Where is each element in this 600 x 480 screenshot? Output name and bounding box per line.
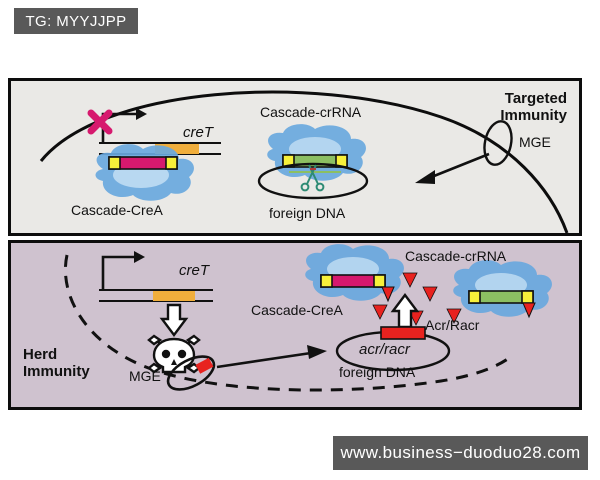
cret-gene-label-bottom: creT	[179, 263, 209, 280]
mge-transfer-arrow-line	[217, 353, 311, 367]
acr-racr-gene-label: acr/racr	[359, 342, 410, 359]
panel-title-line1: Targeted	[500, 91, 567, 108]
mge-entry-arrow-head	[415, 170, 435, 184]
telegram-watermark-text: TG: MYYJJPP	[25, 13, 126, 30]
crrna-bar-end-right-bottom	[522, 291, 533, 303]
site-watermark-text: www.business−duoduo28.com	[340, 443, 580, 463]
panel-targeted-immunity: creT Cascade-CreA Cascade-crRNA foreign …	[8, 78, 582, 236]
crea-bar-end-left-bottom	[321, 275, 332, 287]
cascade-crrna-complex-bottom	[453, 260, 552, 317]
panel-title-line2-bottom: Immunity	[23, 364, 90, 381]
mge-transfer-arrow-head	[307, 345, 327, 359]
crrna-bar-end-left-bottom	[469, 291, 480, 303]
cascade-crea-label-top: Cascade-CreA	[71, 203, 163, 219]
crea-bar-end-right-bottom	[374, 275, 385, 287]
mge-label-bottom: MGE	[129, 369, 161, 385]
panel-title-herd-immunity: Herd Immunity	[23, 347, 90, 381]
promoter-arrow-head-bottom	[134, 251, 145, 263]
panel-title-targeted-immunity: Targeted Immunity	[500, 91, 567, 125]
herd-immunity-graphics	[11, 243, 579, 407]
foreign-dna-label-top: foreign DNA	[269, 206, 345, 222]
acr-racr-gene-box	[381, 327, 425, 339]
cascade-crea-complex-bottom	[305, 244, 404, 301]
panel-title-line1-bottom: Herd	[23, 347, 90, 364]
panel-herd-immunity: creT Cascade-CreA Cascade-crRNA Acr/Racr…	[8, 240, 582, 410]
mge-oval	[481, 119, 516, 167]
cascade-crrna-label-top: Cascade-crRNA	[260, 105, 361, 121]
mge-label-top: MGE	[519, 135, 551, 151]
acr-expression-up-arrow	[393, 295, 417, 327]
promoter-arrow-line-bottom	[103, 257, 137, 289]
promoter-arrow-head	[136, 108, 147, 120]
telegram-watermark: TG: MYYJJPP	[14, 8, 138, 34]
crea-bar-end-right	[166, 157, 177, 169]
site-watermark: www.business−duoduo28.com	[333, 436, 588, 470]
acr-triangle	[423, 287, 437, 301]
crea-bar-end-left	[109, 157, 120, 169]
figure-container: creT Cascade-CreA Cascade-crRNA foreign …	[8, 78, 582, 410]
acr-triangle-bound-crea	[382, 287, 394, 301]
skull-and-crossbones-icon	[149, 336, 199, 372]
expression-down-arrow	[162, 305, 186, 335]
cascade-crea-label-bottom: Cascade-CreA	[251, 303, 343, 319]
foreign-dna-label-bottom: foreign DNA	[339, 365, 415, 381]
cascade-crrna-label-bottom: Cascade-crRNA	[405, 249, 506, 265]
acr-triangle	[373, 305, 387, 319]
mge-entry-arrow-line	[429, 154, 489, 178]
cret-gene-label-top: creT	[183, 125, 213, 142]
cret-gene-box-bottom	[153, 291, 195, 301]
acr-triangle	[403, 273, 417, 287]
acr-racr-protein-label: Acr/Racr	[425, 318, 479, 334]
panel-title-line2: Immunity	[500, 108, 567, 125]
